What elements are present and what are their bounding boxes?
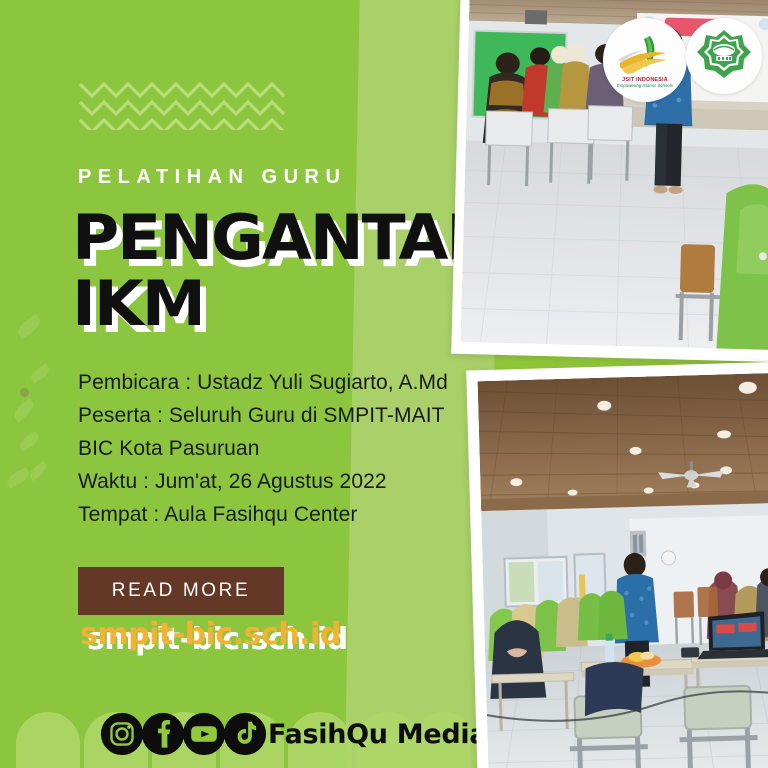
school-emblem-logo <box>686 18 762 94</box>
website-url-orange-layer: smpit-bic.sch.id <box>80 618 341 652</box>
photo-bottom-image <box>478 373 768 768</box>
detail-time: Waktu : Jum'at, 26 Agustus 2022 <box>78 465 478 498</box>
facebook-icon[interactable] <box>141 712 185 756</box>
dot-decoration <box>20 388 29 397</box>
kicker-label: PELATIHAN GURU <box>78 166 346 189</box>
detail-participants-line2: BIC Kota Pasuruan <box>78 432 478 465</box>
instagram-icon[interactable] <box>100 712 144 756</box>
jsit-indonesia-logo: JSIT INDONESIA Empowering Islamic School… <box>603 18 687 102</box>
poster-canvas: PELATIHAN GURU PENGANTAR PENGANTAR IKM I… <box>0 0 768 768</box>
title-line-2-text: IKM <box>72 272 204 336</box>
jsit-mark-icon <box>614 33 676 77</box>
school-emblem-icon <box>696 28 752 84</box>
read-more-button[interactable]: READ MORE <box>78 567 284 615</box>
title-line-2: IKM IKM <box>72 272 502 338</box>
website-url[interactable]: smpit-bic.sch.id smpit-bic.sch.id <box>80 618 400 656</box>
zigzag-decoration <box>78 76 290 130</box>
tiktok-icon[interactable] <box>223 712 267 756</box>
jsit-logo-subcaption: Empowering Islamic Schools <box>617 83 673 88</box>
brand-name-label: FasihQu Media <box>268 719 487 750</box>
page-title: PENGANTAR PENGANTAR IKM IKM <box>72 206 502 338</box>
detail-speaker: Pembicara : Ustadz Yuli Sugiarto, A.Md <box>78 366 478 399</box>
event-details: Pembicara : Ustadz Yuli Sugiarto, A.Md P… <box>78 366 478 531</box>
photo-training-hall-bottom <box>466 362 768 768</box>
detail-place: Tempat : Aula Fasihqu Center <box>78 498 478 531</box>
detail-participants-line1: Peserta : Seluruh Guru di SMPIT-MAIT <box>78 399 478 432</box>
social-media-bar: FasihQu Media <box>100 712 487 756</box>
youtube-icon[interactable] <box>182 712 226 756</box>
title-line-1-text: PENGANTAR <box>72 206 494 270</box>
title-line-1: PENGANTAR PENGANTAR <box>72 206 502 272</box>
